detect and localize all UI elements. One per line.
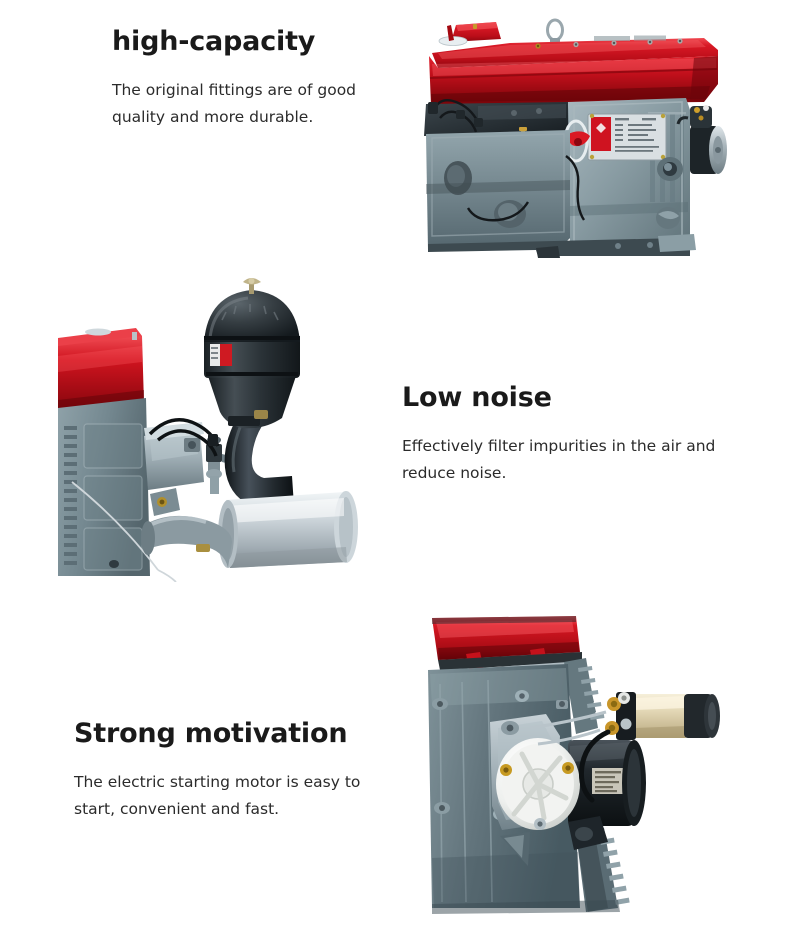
rod-linkage bbox=[556, 700, 568, 709]
muffler bbox=[218, 491, 358, 568]
starter-motor-label bbox=[592, 768, 624, 794]
feature-text-low-noise: Low noise Effectively filter impurities … bbox=[402, 382, 732, 487]
air-filter-label bbox=[210, 344, 232, 366]
feature-title: Strong motivation bbox=[74, 718, 394, 750]
feature-description: Effectively filter impurities in the air… bbox=[402, 433, 732, 487]
feature-description: The original fittings are of good qualit… bbox=[112, 77, 402, 131]
feature-title: high-capacity bbox=[112, 26, 412, 58]
feature-text-high-capacity: high-capacity The original fittings are … bbox=[112, 26, 412, 131]
engine-nameplate bbox=[588, 114, 666, 160]
side-access-port bbox=[657, 157, 683, 181]
air-filter-illustration bbox=[58, 276, 374, 582]
feature-image-electric-starter-motor bbox=[418, 608, 734, 924]
diesel-engine-illustration bbox=[418, 6, 738, 258]
feature-description: The electric starting motor is easy to s… bbox=[74, 769, 384, 823]
starter-motor-illustration bbox=[418, 608, 734, 924]
starter-drive-end-cap bbox=[496, 738, 580, 830]
block-panels bbox=[84, 424, 142, 570]
feature-image-diesel-engine-full-view bbox=[418, 6, 738, 258]
fuel-line-clamp bbox=[208, 434, 218, 446]
feature-image-air-filter-and-muffler bbox=[58, 276, 374, 582]
lower-side-port bbox=[656, 207, 680, 229]
feature-text-strong-motivation: Strong motivation The electric starting … bbox=[74, 718, 394, 823]
feature-title: Low noise bbox=[402, 382, 732, 414]
starter-solenoid bbox=[605, 692, 720, 740]
product-feature-page: high-capacity The original fittings are … bbox=[0, 0, 790, 952]
